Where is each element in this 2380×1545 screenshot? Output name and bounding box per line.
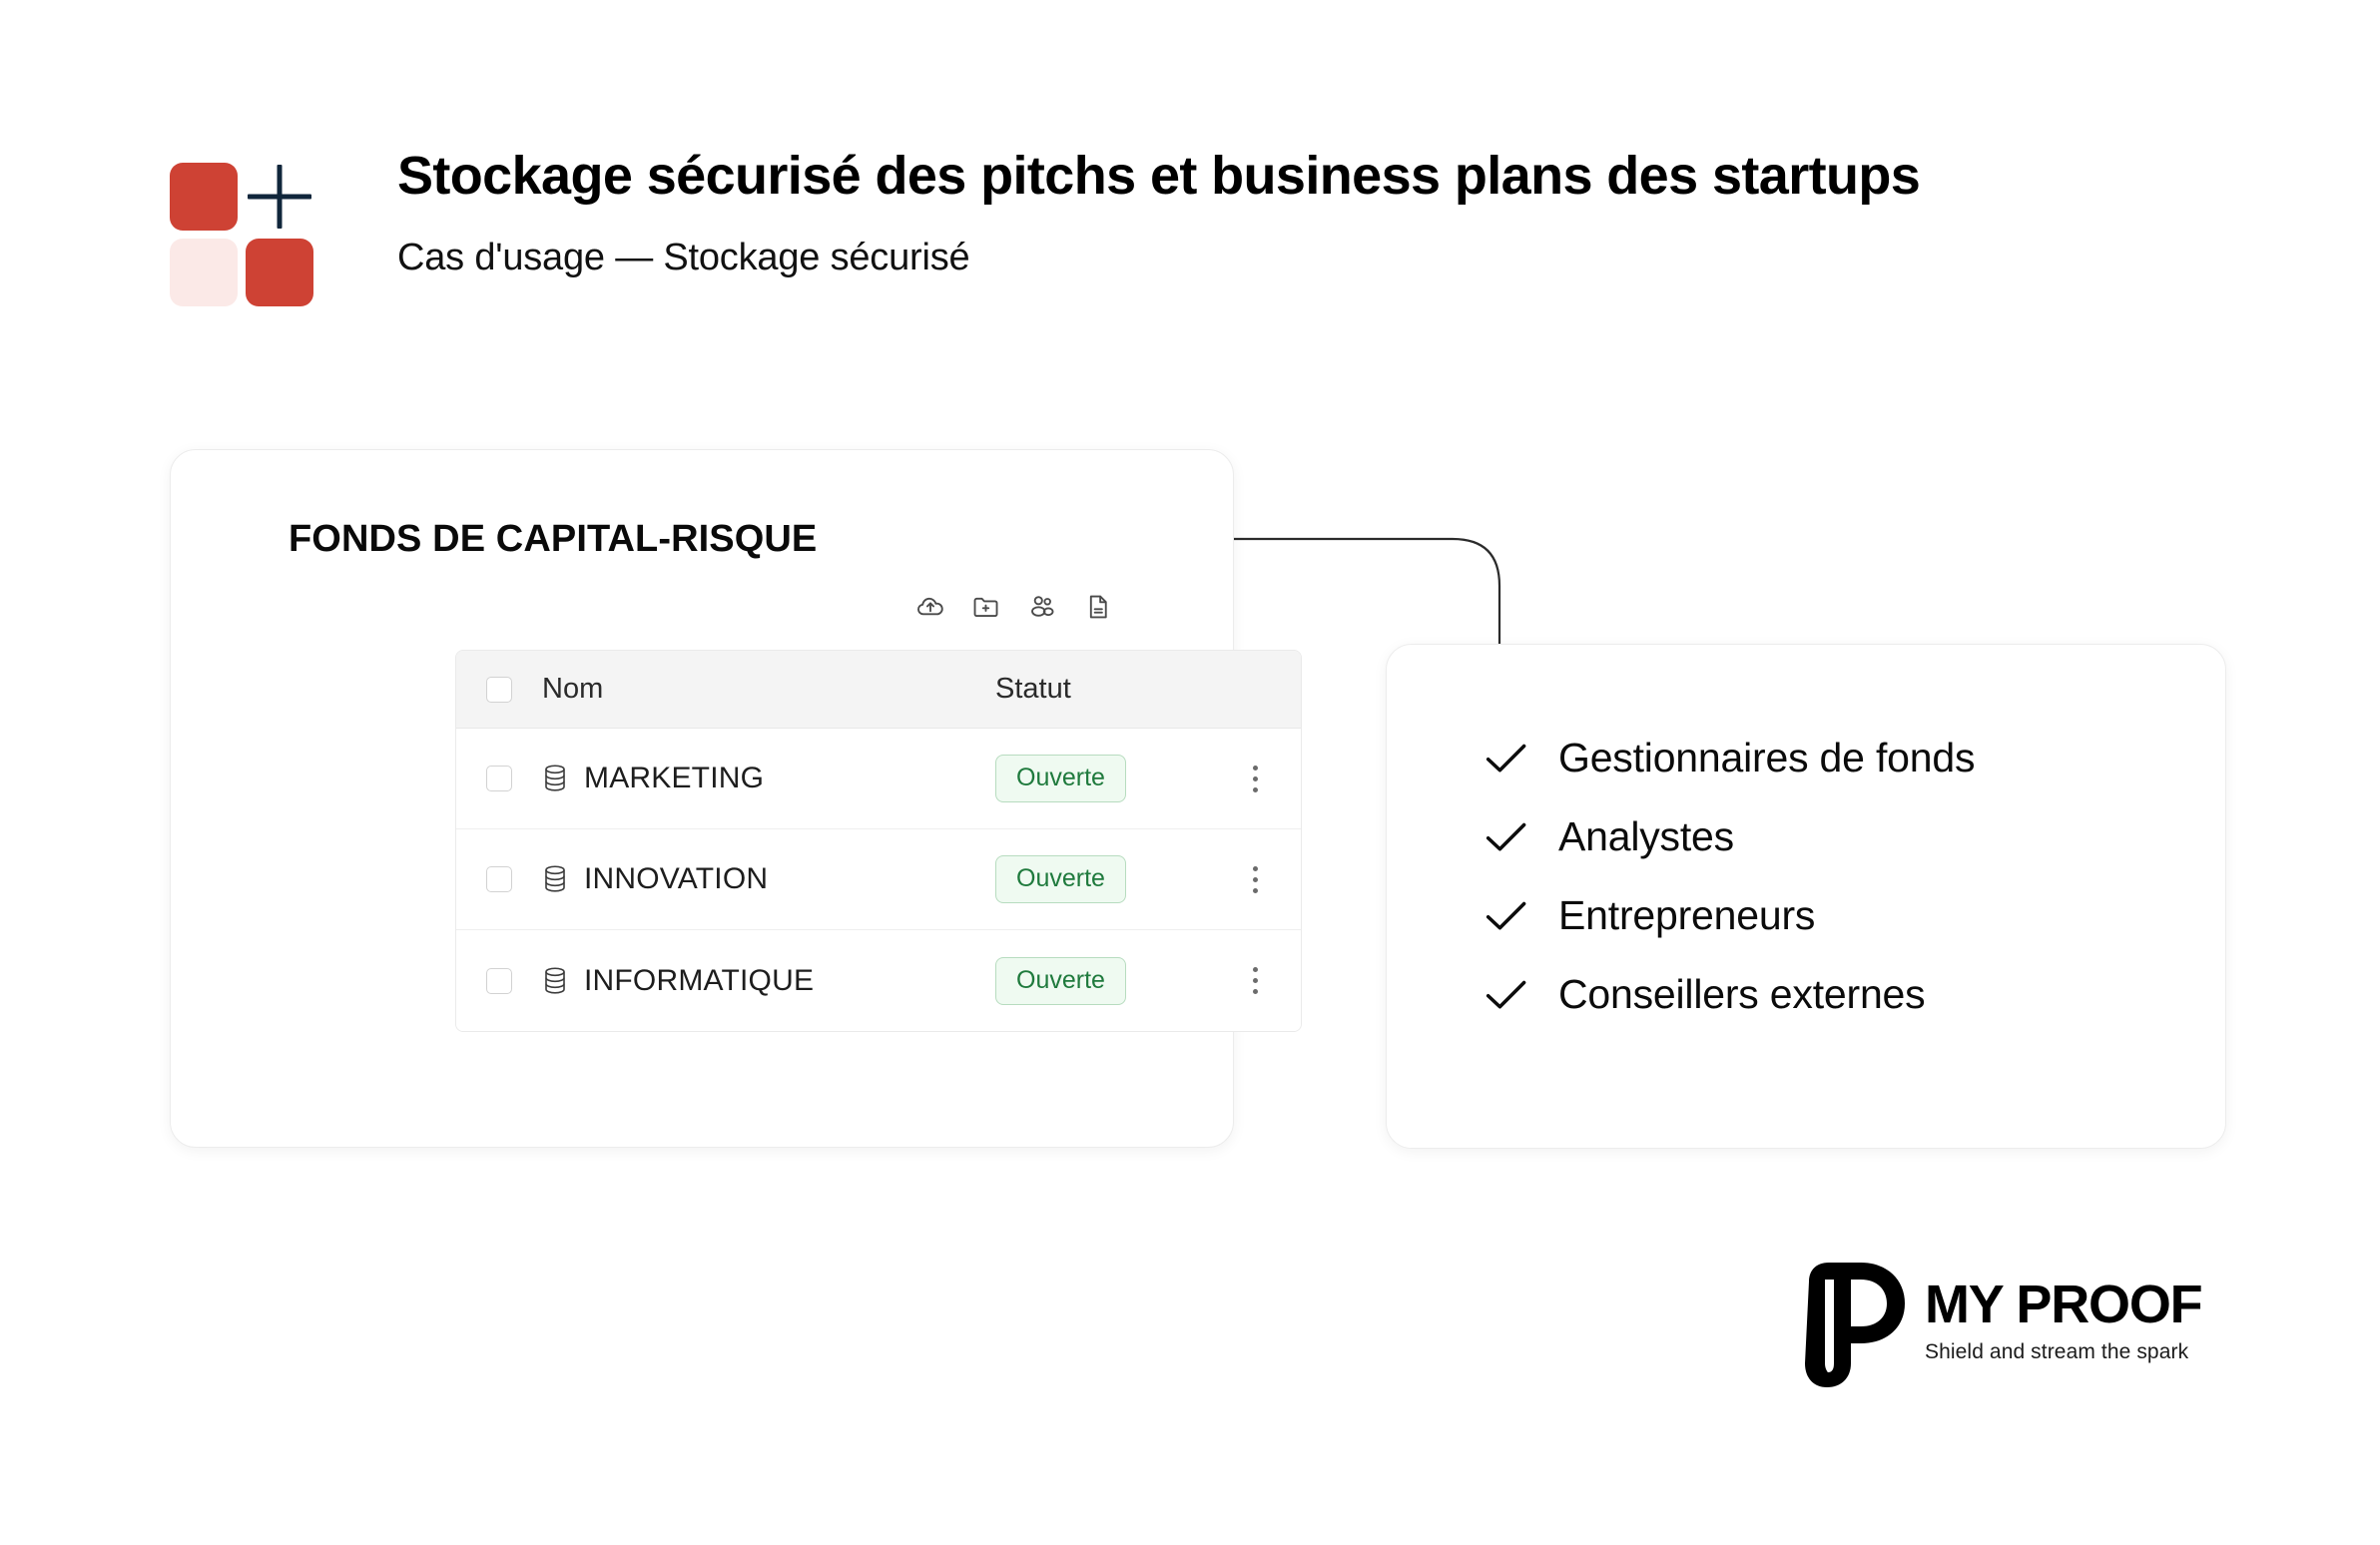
row-status-cell: Ouverte — [995, 855, 1209, 903]
logo-square-red-bottom — [246, 239, 313, 306]
check-icon — [1485, 820, 1528, 854]
users-icon[interactable] — [1025, 590, 1059, 624]
column-header-nom: Nom — [542, 673, 995, 706]
check-icon — [1485, 742, 1528, 775]
list-item: Analystes — [1485, 813, 1975, 860]
table-row[interactable]: MARKETING Ouverte — [456, 729, 1301, 829]
row-status-cell: Ouverte — [995, 755, 1209, 802]
slide-canvas: Stockage sécurisé des pitchs et business… — [0, 0, 2380, 1545]
list-item: Gestionnaires de fonds — [1485, 735, 1975, 781]
roles-list: Gestionnaires de fonds Analystes Entrepr… — [1485, 735, 1975, 1018]
brand-text: MY PROOF Shield and stream the spark — [1925, 1278, 2234, 1364]
app-logo — [170, 163, 313, 306]
row-checkbox[interactable] — [486, 766, 512, 791]
fund-card-title: FONDS DE CAPITAL-RISQUE — [289, 518, 817, 561]
check-icon — [1485, 899, 1528, 933]
row-menu-button[interactable] — [1209, 866, 1301, 893]
header: Stockage sécurisé des pitchs et business… — [170, 148, 2266, 327]
page-title: Stockage sécurisé des pitchs et business… — [397, 148, 2264, 205]
list-item-label: Conseillers externes — [1558, 971, 1925, 1018]
more-vertical-icon[interactable] — [1253, 866, 1258, 893]
list-item: Entrepreneurs — [1485, 892, 1975, 939]
document-icon[interactable] — [1081, 590, 1115, 624]
row-checkbox[interactable] — [486, 866, 512, 892]
cloud-upload-icon[interactable] — [913, 590, 947, 624]
title-group: Stockage sécurisé des pitchs et business… — [397, 148, 2264, 279]
row-checkbox-cell[interactable] — [456, 766, 542, 791]
row-name-cell: INFORMATIQUE — [542, 964, 995, 998]
check-icon — [1485, 978, 1528, 1012]
brand-logo: MY PROOF Shield and stream the spark — [1795, 1260, 2234, 1389]
page-subtitle: Cas d'usage — Stockage sécurisé — [397, 237, 2264, 279]
row-menu-button[interactable] — [1209, 967, 1301, 994]
brand-tagline: Shield and stream the spark — [1925, 1340, 2234, 1364]
fund-files-card: FONDS DE CAPITAL-RISQUE — [170, 449, 1234, 1148]
row-name-label: MARKETING — [584, 762, 764, 795]
brand-name: MY PROOF — [1925, 1278, 2234, 1331]
row-status-cell: Ouverte — [995, 957, 1209, 1005]
row-checkbox[interactable] — [486, 968, 512, 994]
more-vertical-icon[interactable] — [1253, 766, 1258, 792]
logo-square-pale — [170, 239, 238, 306]
more-vertical-icon[interactable] — [1253, 967, 1258, 994]
select-all-cell[interactable] — [456, 677, 542, 703]
list-item-label: Entrepreneurs — [1558, 892, 1815, 939]
select-all-checkbox[interactable] — [486, 677, 512, 703]
row-checkbox-cell[interactable] — [456, 866, 542, 892]
list-item: Conseillers externes — [1485, 971, 1975, 1018]
status-badge: Ouverte — [995, 957, 1126, 1005]
files-table: Nom Statut MARKETING — [455, 650, 1302, 1032]
row-name-label: INFORMATIQUE — [584, 964, 814, 998]
database-icon — [542, 864, 568, 894]
row-checkbox-cell[interactable] — [456, 968, 542, 994]
status-badge: Ouverte — [995, 755, 1126, 802]
row-name-cell: MARKETING — [542, 762, 995, 795]
list-item-label: Gestionnaires de fonds — [1558, 735, 1975, 781]
row-name-label: INNOVATION — [584, 862, 768, 896]
column-header-statut: Statut — [995, 673, 1209, 706]
row-menu-button[interactable] — [1209, 766, 1301, 792]
table-header-row: Nom Statut — [456, 651, 1301, 729]
roles-card: Gestionnaires de fonds Analystes Entrepr… — [1386, 644, 2226, 1149]
row-name-cell: INNOVATION — [542, 862, 995, 896]
myproof-p-mark — [1795, 1260, 1919, 1389]
database-icon — [542, 966, 568, 996]
plus-icon — [246, 163, 313, 231]
list-item-label: Analystes — [1558, 813, 1734, 860]
table-row[interactable]: INNOVATION Ouverte — [456, 829, 1301, 930]
status-badge: Ouverte — [995, 855, 1126, 903]
logo-square-red-top — [170, 163, 238, 231]
card-toolbar — [913, 590, 1115, 624]
database-icon — [542, 764, 568, 793]
table-row[interactable]: INFORMATIQUE Ouverte — [456, 930, 1301, 1031]
folder-add-icon[interactable] — [969, 590, 1003, 624]
